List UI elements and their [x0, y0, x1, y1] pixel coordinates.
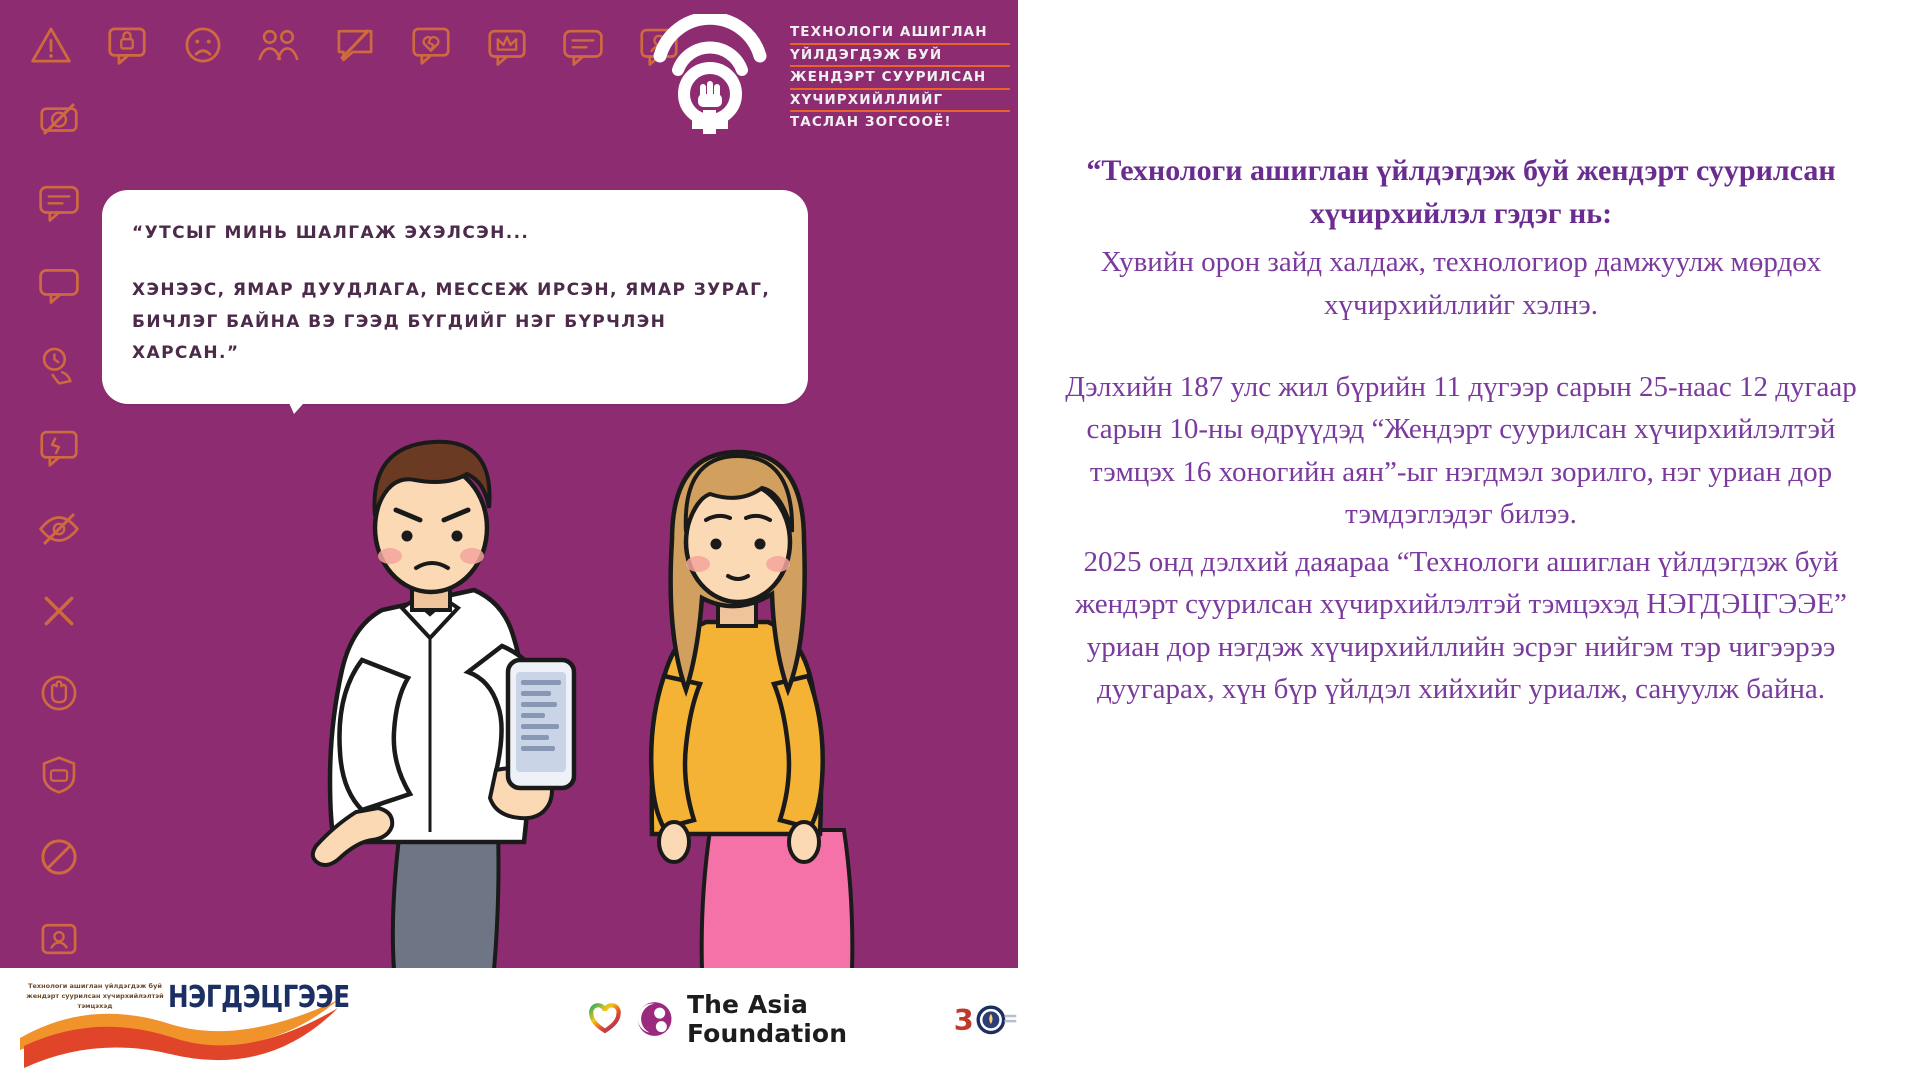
logo-line-5: ТАСЛАН ЗОГСООЁ! [790, 116, 1010, 133]
asia-foundation-mark-icon [636, 997, 673, 1041]
lead-quote: “Технологи ашиглан үйлдэгдэж буй жендэрт… [1056, 150, 1866, 235]
paragraph-2: 2025 онд дэлхий даяараа “Технологи ашигл… [1056, 541, 1866, 710]
sad-face-icon [180, 22, 226, 68]
no-speech-icon [332, 22, 378, 68]
chat-lines-icon [560, 22, 606, 68]
group-people-icon [256, 22, 302, 68]
logo-line-4: ХҮЧИРХИЙЛЛИЙГ [790, 94, 1010, 113]
paragraph-1: Дэлхийн 187 улс жил бүрийн 11 дүгээр сар… [1056, 366, 1866, 535]
asia-foundation-name: The Asia Foundation [687, 990, 932, 1048]
definition-text: Хувийн орон зайд халдаж, технологиор дам… [1056, 241, 1866, 326]
poster-icon-column [28, 96, 90, 1080]
stop-hand-icon [36, 670, 82, 716]
anniversary-30-icon: 3 [952, 996, 1018, 1042]
slide: ТЕХНОЛОГИ АШИГЛАН ҮЙЛДЭГДЭЖ БУЙ ЖЕНДЭРТ … [0, 0, 1920, 1080]
person-card-icon [36, 916, 82, 962]
shield-card-icon [36, 752, 82, 798]
speech-bubble-line-1: “УТСЫГ МИНЬ ШАЛГАЖ ЭХЭЛСЭН... [132, 218, 778, 249]
x-cross-icon [36, 588, 82, 634]
text-panel: “Технологи ашиглан үйлдэгдэж буй жендэрт… [1018, 0, 1920, 1080]
poster: ТЕХНОЛОГИ АШИГЛАН ҮЙЛДЭГДЭЖ БУЙ ЖЕНДЭРТ … [0, 0, 1018, 1080]
poster-icon-row [28, 14, 668, 76]
crown-chat-icon [484, 22, 530, 68]
campaign-tagline: Технологи ашиглан үйлдэгдэж буй жендэрт … [20, 982, 170, 1011]
chat-lines-icon [36, 178, 82, 224]
no-entry-icon [36, 834, 82, 880]
asia-foundation-logo-group: The Asia Foundation 3 [588, 990, 1018, 1048]
logo-line-1: ТЕХНОЛОГИ АШИГЛАН [790, 26, 1010, 45]
text-panel-content: “Технологи ашиглан үйлдэгдэж буй жендэрт… [1056, 150, 1866, 710]
poster-footer: Технологи ашиглан үйлдэгдэж буй жендэрт … [0, 968, 1018, 1080]
wifi-fist-venus-logo [640, 14, 780, 134]
broken-chat-icon [36, 424, 82, 470]
no-camera-icon [36, 96, 82, 142]
poster-body: ТЕХНОЛОГИ АШИГЛАН ҮЙЛДЭГДЭЖ БУЙ ЖЕНДЭРТ … [0, 0, 1018, 968]
campaign-word: НЭГДЭЦГЭЭЕ [168, 980, 350, 1015]
clock-hand-icon [36, 342, 82, 388]
speech-bubble-line-2: ХЭНЭЭС, ЯМАР ДУУДЛАГА, МЕССЕЖ ИРСЭН, ЯМА… [132, 275, 778, 369]
svg-text:3: 3 [954, 1003, 974, 1037]
eye-off-icon [36, 506, 82, 552]
illustration-couple-phone [150, 360, 920, 970]
logo-line-3: ЖЕНДЭРТ СУУРИЛСАН [790, 71, 1010, 90]
broken-heart-chat-icon [408, 22, 454, 68]
lock-chat-icon [104, 22, 150, 68]
colored-heart-icon [588, 999, 622, 1039]
warning-triangle-icon [28, 22, 74, 68]
logo-line-2: ҮЙЛДЭГДЭЖ БУЙ [790, 49, 1010, 68]
chat-bubble-icon [36, 260, 82, 306]
logo-headline: ТЕХНОЛОГИ АШИГЛАН ҮЙЛДЭГДЭЖ БУЙ ЖЕНДЭРТ … [790, 26, 1010, 137]
